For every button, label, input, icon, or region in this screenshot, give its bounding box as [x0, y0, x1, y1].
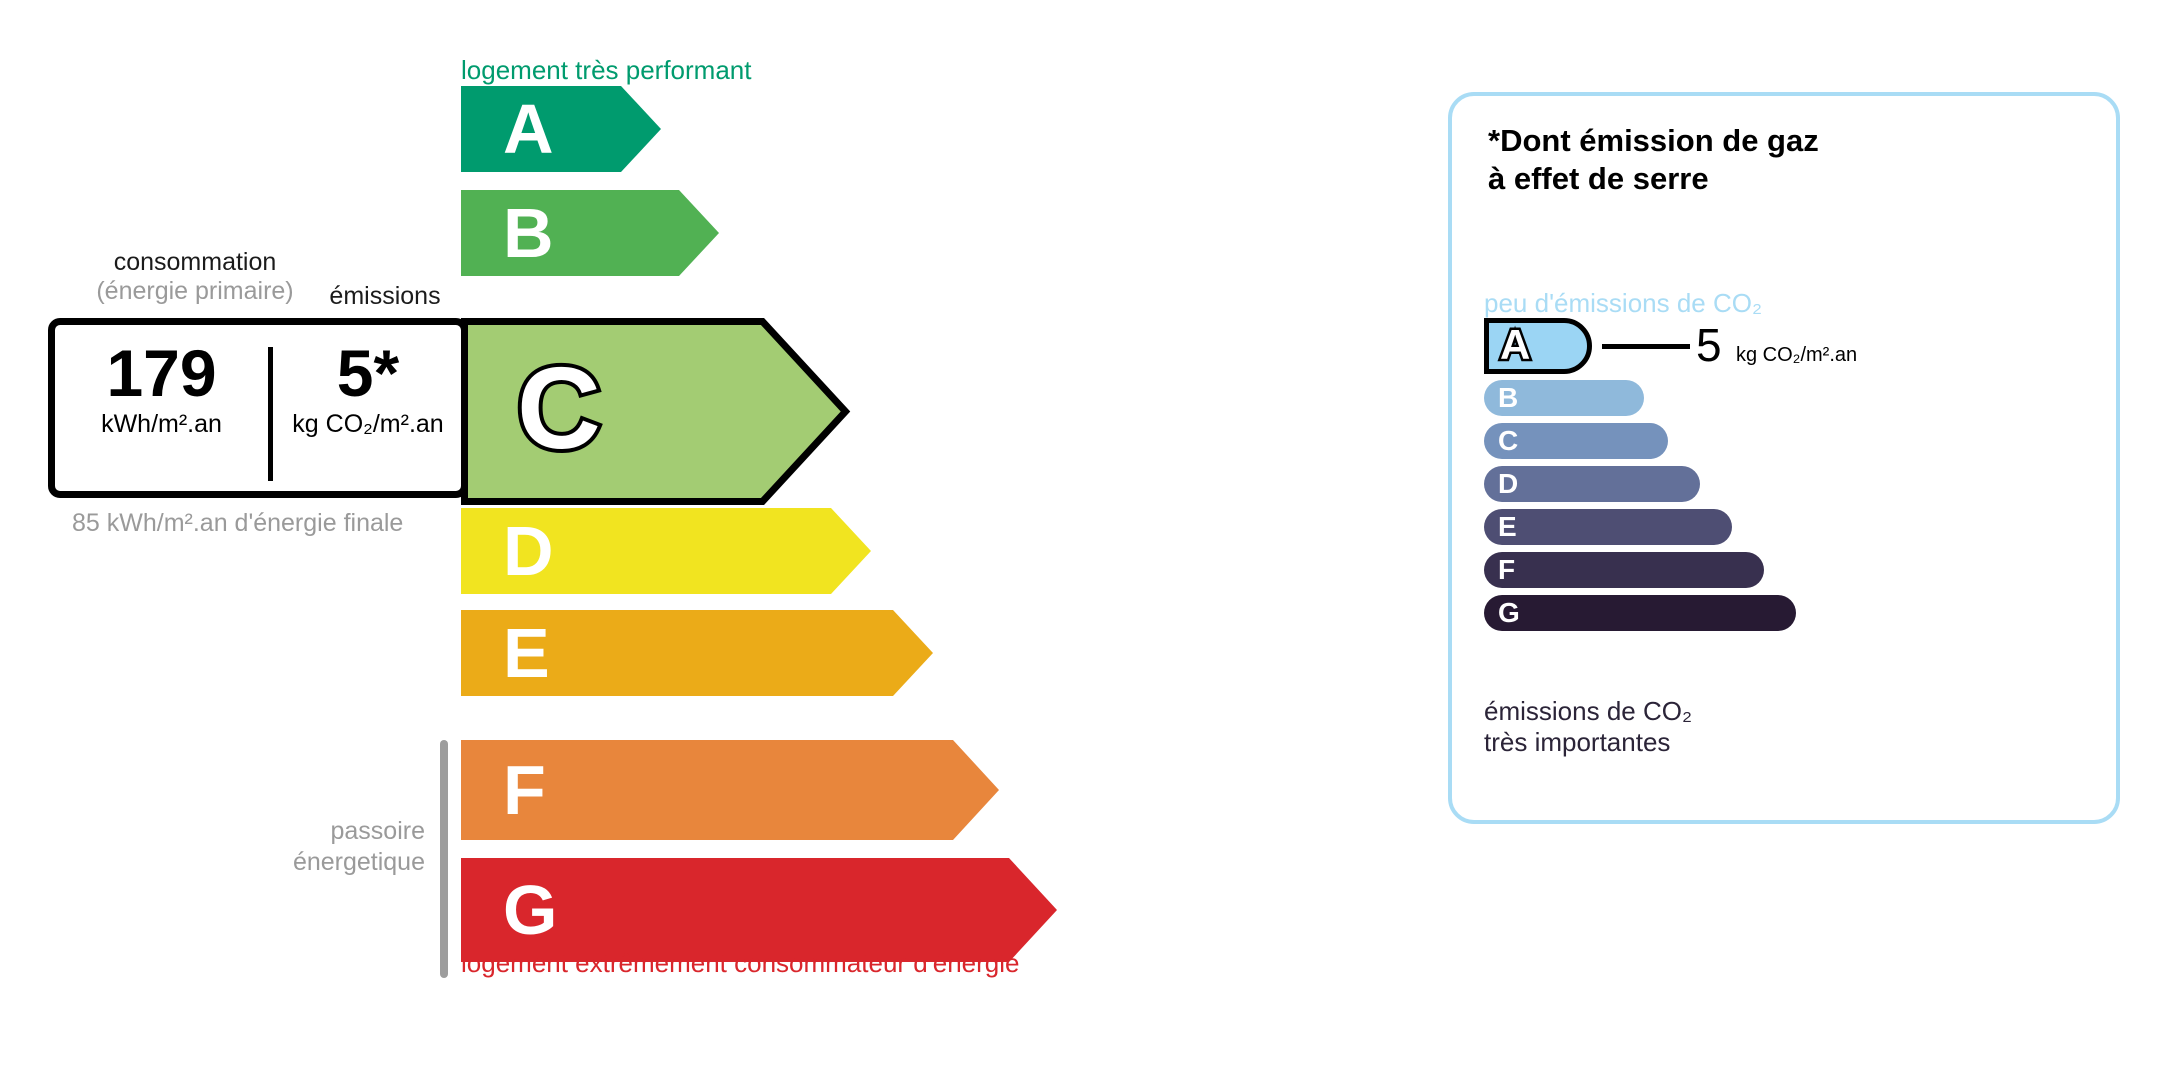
- band-letter-a: A: [503, 94, 554, 164]
- co2-bar-label: G: [1498, 599, 1520, 627]
- energy-band-f: F: [461, 740, 999, 840]
- co2-panel-title: *Dont émission de gaz à effet de serre: [1488, 122, 1819, 198]
- co2-value: 5: [1696, 322, 1722, 368]
- band-shape: [461, 190, 719, 276]
- co2-value-unit: kg CO₂/m².an: [1736, 344, 1857, 367]
- emission-unit: kg CO₂/m².an: [273, 410, 463, 439]
- co2-top-label: peu d'émissions de CO₂: [1484, 288, 1762, 319]
- co2-bar: C: [1484, 423, 1668, 459]
- energy-performance-ladder: logement très performant consommation (é…: [0, 0, 1340, 1079]
- consumption-header-line2: (énergie primaire): [70, 277, 320, 306]
- primary-energy-unit: kWh/m².an: [59, 410, 264, 439]
- primary-energy-value: 179: [59, 339, 264, 408]
- passoire-marker-bar: [440, 740, 448, 978]
- bottom-caption: logement extrêmement consommateur d'éner…: [461, 948, 1019, 979]
- co2-bar-label: B: [1498, 384, 1518, 412]
- co2-bar-label: F: [1498, 556, 1515, 584]
- energy-band-c: C: [461, 318, 842, 498]
- energy-band-d: D: [461, 508, 871, 594]
- co2-leader-line: [1602, 344, 1690, 349]
- co2-bar: F: [1484, 552, 1764, 588]
- co2-bar-label: D: [1498, 470, 1518, 498]
- band-letter-f: F: [503, 755, 546, 825]
- band-shape: [461, 86, 661, 172]
- co2-panel: *Dont émission de gaz à effet de serre p…: [1448, 92, 2120, 824]
- co2-bar: G: [1484, 595, 1796, 631]
- passoire-label: passoire énergetique: [200, 816, 425, 879]
- consumption-header: consommation (énergie primaire): [70, 248, 320, 306]
- final-energy-note: 85 kWh/m².an d'énergie finale: [72, 508, 403, 539]
- energy-band-b: B: [461, 190, 719, 276]
- co2-bar: E: [1484, 509, 1732, 545]
- band-letter-b: B: [503, 198, 554, 268]
- co2-current-letter: A: [1500, 324, 1530, 366]
- band-letter-g: G: [503, 875, 557, 945]
- emissions-header: émissions: [300, 282, 470, 311]
- band-letter-c: C: [517, 350, 601, 466]
- band-letter-e: E: [503, 618, 550, 688]
- primary-energy-cell: 179 kWh/m².an: [59, 339, 264, 489]
- co2-bar-label: C: [1498, 427, 1518, 455]
- emission-value: 5*: [273, 339, 463, 408]
- dpe-diagram: logement très performant consommation (é…: [0, 0, 2169, 1079]
- co2-bottom-label: émissions de CO₂ très importantes: [1484, 696, 1692, 758]
- consumption-header-line1: consommation: [70, 248, 320, 277]
- co2-bar: D: [1484, 466, 1700, 502]
- energy-band-a: A: [461, 86, 661, 172]
- energy-band-e: E: [461, 610, 933, 696]
- band-letter-d: D: [503, 516, 554, 586]
- energy-band-g: G: [461, 858, 1057, 962]
- emission-cell: 5* kg CO₂/m².an: [273, 339, 463, 489]
- value-box: 179 kWh/m².an 5* kg CO₂/m².an: [48, 318, 468, 498]
- co2-bar: B: [1484, 380, 1644, 416]
- co2-bar-label: E: [1498, 513, 1517, 541]
- top-caption: logement très performant: [461, 55, 751, 86]
